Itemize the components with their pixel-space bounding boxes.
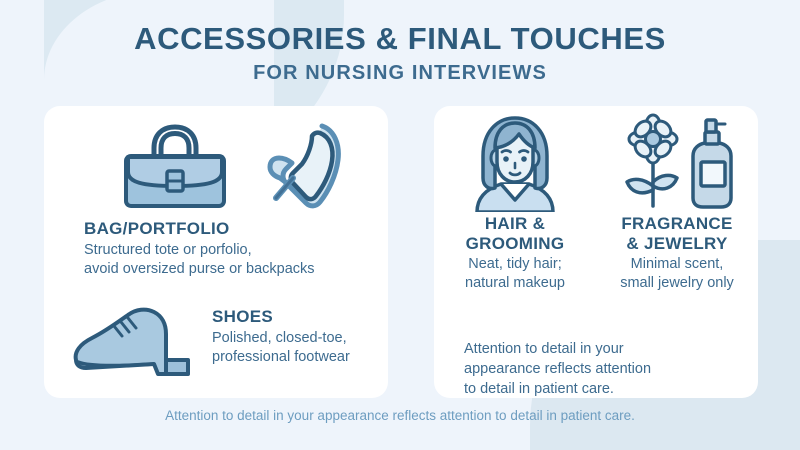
fragrance-jewelry-title-line1: FRAGRANCE xyxy=(621,214,732,233)
header: ACCESSORIES & FINAL TOUCHES FOR NURSING … xyxy=(0,22,800,84)
card-grooming: HAIR & GROOMING Neat, tidy hair; natural… xyxy=(434,106,758,398)
grooming-note-line1: Attention to detail in your xyxy=(464,341,624,357)
shoes-desc: Polished, closed-toe, professional footw… xyxy=(212,329,350,367)
bag-icon-row xyxy=(44,112,388,216)
bag-portfolio-text: BAG/PORTFOLIO Structured tote or porfoli… xyxy=(84,219,384,279)
fragrance-jewelry-desc-line2: small jewelry only xyxy=(620,275,734,291)
fragrance-jewelry-desc: Minimal scent, small jewelry only xyxy=(596,255,758,293)
column-hair-grooming: HAIR & GROOMING Neat, tidy hair; natural… xyxy=(434,112,596,293)
footer-caption: Attention to detail in your appearance r… xyxy=(0,408,800,423)
hair-grooming-desc-line2: natural makeup xyxy=(465,275,565,291)
high-heel-shoe-icon xyxy=(262,120,348,217)
shoes-title: SHOES xyxy=(212,307,350,327)
hair-grooming-title-line2: GROOMING xyxy=(466,234,565,253)
hair-grooming-desc-line1: Neat, tidy hair; xyxy=(468,256,562,272)
shoes-block: SHOES Polished, closed-toe, professional… xyxy=(62,296,382,391)
bag-portfolio-desc-line1: Structured tote or porfolio, xyxy=(84,242,252,258)
column-fragrance-jewelry: FRAGRANCE & JEWELRY Minimal scent, small… xyxy=(596,112,758,293)
shoes-desc-line1: Polished, closed-toe, xyxy=(212,330,347,346)
infographic-canvas: ACCESSORIES & FINAL TOUCHES FOR NURSING … xyxy=(0,0,800,450)
fragrance-jewelry-title: FRAGRANCE & JEWELRY xyxy=(596,214,758,253)
handbag-tote-icon xyxy=(116,116,234,217)
bag-portfolio-title: BAG/PORTFOLIO xyxy=(84,219,384,239)
shoes-text: SHOES Polished, closed-toe, professional… xyxy=(212,296,350,367)
hair-grooming-title-line1: HAIR & xyxy=(485,214,545,233)
page-title: ACCESSORIES & FINAL TOUCHES xyxy=(0,22,800,56)
card-accessories: BAG/PORTFOLIO Structured tote or porfoli… xyxy=(44,106,388,398)
page-subtitle: FOR NURSING INTERVIEWS xyxy=(0,62,800,84)
shoes-desc-line2: professional footwear xyxy=(212,349,350,365)
hair-grooming-desc: Neat, tidy hair; natural makeup xyxy=(434,255,596,293)
bag-portfolio-desc: Structured tote or porfolio, avoid overs… xyxy=(84,241,384,279)
fragrance-jewelry-title-line2: & JEWELRY xyxy=(626,234,727,253)
hair-grooming-title: HAIR & GROOMING xyxy=(434,214,596,253)
grooming-note-line2: appearance reflects attention xyxy=(464,361,651,377)
woman-face-grooming-icon xyxy=(434,112,596,212)
grooming-columns: HAIR & GROOMING Neat, tidy hair; natural… xyxy=(434,112,758,293)
fragrance-jewelry-desc-line1: Minimal scent, xyxy=(631,256,724,272)
grooming-note-line3: to detail in patient care. xyxy=(464,381,614,397)
grooming-note: Attention to detail in your appearance r… xyxy=(464,339,726,400)
flower-perfume-bottle-icon xyxy=(596,112,758,212)
oxford-shoe-icon xyxy=(62,302,202,391)
bag-portfolio-desc-line2: avoid oversized purse or backpacks xyxy=(84,261,315,277)
